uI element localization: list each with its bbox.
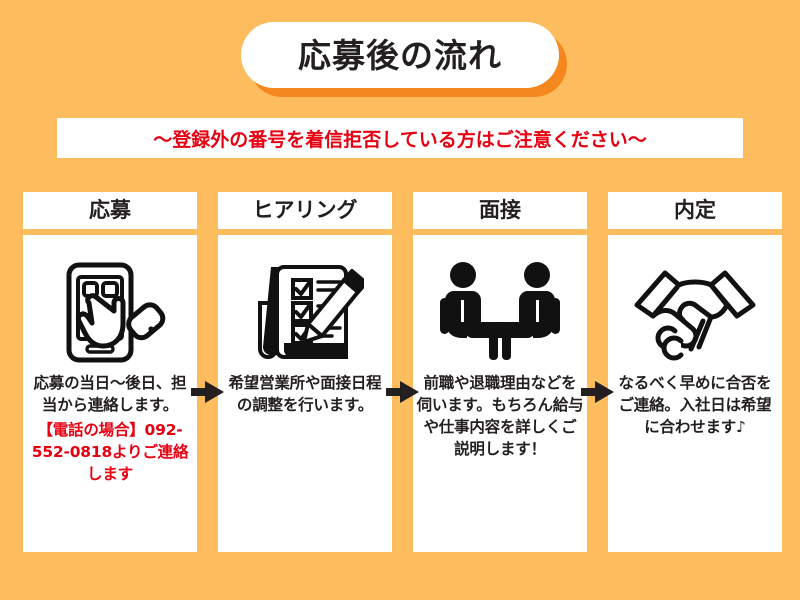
step-body-1: 応募の当日〜後日、担当から連絡します。 【電話の場合】092-552-0818よ… (23, 235, 197, 552)
step-header-label: 面接 (479, 200, 521, 221)
step-body-red-1: 【電話の場合】092-552-0818よりご連絡します (26, 419, 194, 485)
step-column-4: 内定 なるべく早めに合否をご連絡。入社日は希望に合わせます♪ (608, 192, 782, 552)
checklist-pencil-icon (235, 247, 375, 372)
step-body-main-1: 応募の当日〜後日、担当から連絡します。 (33, 374, 186, 414)
handshake-icon (625, 247, 765, 372)
step-header-label: ヒアリング (253, 200, 358, 221)
step-header-label: 応募 (89, 200, 131, 221)
step-column-3: 面接 (413, 192, 587, 552)
step-body-main-4: なるべく早めに合否をご連絡。入社日は希望に合わせます♪ (618, 374, 771, 436)
step-column-2: ヒアリング (218, 192, 392, 552)
step-body-3: 前職や退職理由などを伺います。もちろん給与や仕事内容を詳しくご説明します！ (413, 235, 587, 552)
step-header-4: 内定 (608, 192, 782, 229)
step-body-text-3: 前職や退職理由などを伺います。もちろん給与や仕事内容を詳しくご説明します！ (416, 372, 584, 460)
two-people-seated-icon (430, 247, 570, 372)
step-body-main-2: 希望営業所や面接日程の調整を行います。 (228, 374, 381, 414)
step-body-text-4: なるべく早めに合否をご連絡。入社日は希望に合わせます♪ (611, 372, 779, 438)
step-header-label: 内定 (674, 200, 716, 221)
step-arrow-2 (386, 381, 419, 403)
step-arrow-3 (581, 381, 614, 403)
step-header-2: ヒアリング (218, 192, 392, 229)
step-body-text-1: 応募の当日〜後日、担当から連絡します。 【電話の場合】092-552-0818よ… (26, 372, 194, 485)
step-arrow-1 (191, 381, 224, 403)
steps-container: 応募 応募の当日〜後日、担当から連絡します。 (0, 0, 800, 600)
step-body-text-2: 希望営業所や面接日程の調整を行います。 (221, 372, 389, 416)
step-header-3: 面接 (413, 192, 587, 229)
smartphone-tap-icon (40, 247, 180, 372)
step-header-1: 応募 (23, 192, 197, 229)
step-body-main-3: 前職や退職理由などを伺います。もちろん給与や仕事内容を詳しくご説明します！ (417, 374, 584, 458)
step-column-1: 応募 応募の当日〜後日、担当から連絡します。 (23, 192, 197, 552)
step-body-2: 希望営業所や面接日程の調整を行います。 (218, 235, 392, 552)
step-body-4: なるべく早めに合否をご連絡。入社日は希望に合わせます♪ (608, 235, 782, 552)
